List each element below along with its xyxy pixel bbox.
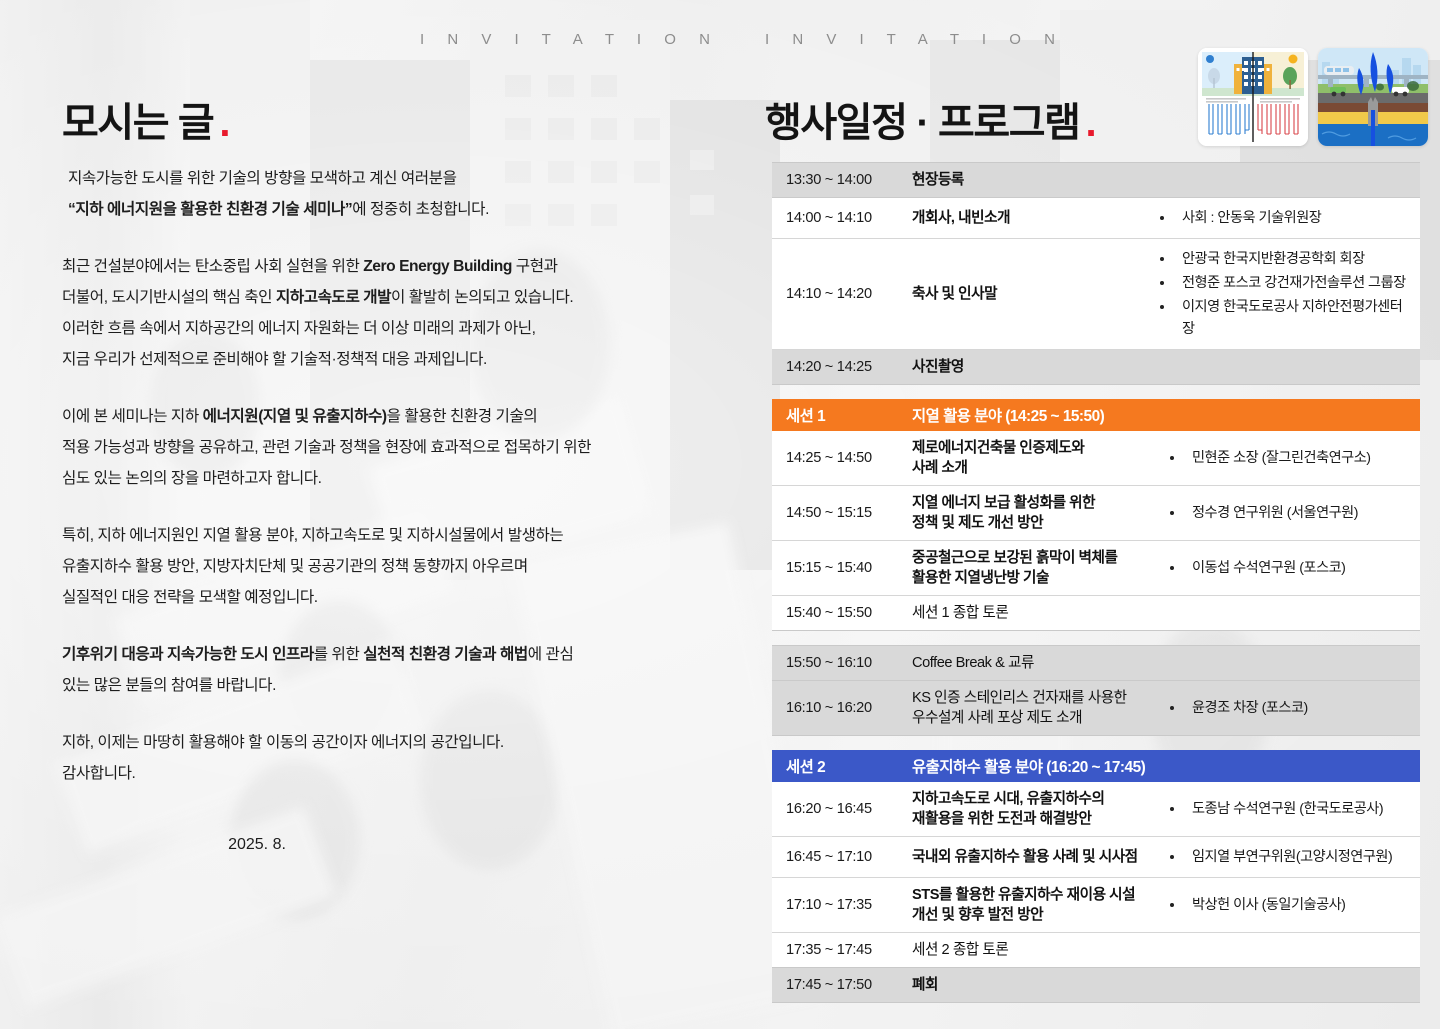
schedule-row: 14:10 ~ 14:20축사 및 인사말안광국 한국지반환경공학회 회장전형준… — [772, 239, 1420, 350]
session-label: 세션 1 — [772, 404, 912, 426]
schedule-speaker-cell — [1158, 596, 1420, 630]
schedule-speaker-cell: 사회 : 안동욱 기술위원장 — [1148, 198, 1420, 238]
schedule-title-cell: 개회사, 내빈소개 — [912, 198, 1148, 238]
schedule-speaker-item: 민현준 소장 (잘그린건축연구소) — [1158, 447, 1412, 469]
schedule-speaker-cell: 안광국 한국지반환경공학회 회장전형준 포스코 강건재가전솔루션 그룹장이지영 … — [1148, 239, 1420, 349]
schedule-title-cell: 세션 2 종합 토론 — [912, 933, 1158, 967]
schedule-table: 13:30 ~ 14:00현장등록14:00 ~ 14:10개회사, 내빈소개사… — [772, 162, 1420, 1003]
schedule-session1-block: 세션 1지열 활용 분야 (14:25 ~ 15:50)14:25 ~ 14:5… — [772, 399, 1420, 631]
schedule-speaker-item: 안광국 한국지반환경공학회 회장 — [1148, 248, 1412, 270]
schedule-speaker-item: 이지영 한국도로공사 지하안전평가센터장 — [1148, 296, 1412, 340]
schedule-row: 14:20 ~ 14:25사진촬영 — [772, 350, 1420, 385]
schedule-speaker-item: 사회 : 안동욱 기술위원장 — [1148, 207, 1412, 229]
schedule-title-cell: 세션 1 종합 토론 — [912, 596, 1158, 630]
schedule-row: 17:45 ~ 17:50폐회 — [772, 968, 1420, 1003]
schedule-row: 15:15 ~ 15:40중공철근으로 보강된 흙막이 벽체를활용한 지열냉난방… — [772, 541, 1420, 596]
schedule-time-cell: 14:25 ~ 14:50 — [772, 431, 912, 485]
schedule-time-cell: 16:10 ~ 16:20 — [772, 681, 912, 735]
schedule-opening-block: 13:30 ~ 14:00현장등록14:00 ~ 14:10개회사, 내빈소개사… — [772, 162, 1420, 385]
schedule-row: 14:25 ~ 14:50제로에너지건축물 인증제도와사례 소개민현준 소장 (… — [772, 431, 1420, 486]
schedule-time-cell: 14:20 ~ 14:25 — [772, 350, 912, 384]
schedule-time-cell: 14:50 ~ 15:15 — [772, 486, 912, 540]
schedule-speaker-cell: 이동섭 수석연구원 (포스코) — [1158, 541, 1420, 595]
schedule-speaker-item: 윤경조 차장 (포스코) — [1158, 697, 1412, 719]
schedule-row: 14:00 ~ 14:10개회사, 내빈소개사회 : 안동욱 기술위원장 — [772, 198, 1420, 239]
page-title-left-text: 모시는 글 — [62, 101, 213, 145]
underground-groundwater-illustration — [1318, 48, 1428, 146]
schedule-row: 13:30 ~ 14:00현장등록 — [772, 162, 1420, 198]
schedule-time-cell: 17:35 ~ 17:45 — [772, 933, 912, 967]
letter-paragraph: 특히, 지하 에너지원인 지열 활용 분야, 지하고속도로 및 지하시설물에서 … — [62, 520, 672, 613]
schedule-time-cell: 17:10 ~ 17:35 — [772, 878, 912, 932]
schedule-row: 16:45 ~ 17:10국내외 유출지하수 활용 사례 및 시사점임지열 부연… — [772, 837, 1420, 878]
accent-dot-icon: . — [1086, 101, 1096, 145]
letter-paragraph: 지하, 이제는 마땅히 활용해야 할 이동의 공간이자 에너지의 공간입니다.감… — [62, 727, 672, 789]
schedule-speaker-item: 박상헌 이사 (동일기술공사) — [1158, 894, 1412, 916]
schedule-row: 14:50 ~ 15:15지열 에너지 보급 활성화를 위한정책 및 제도 개선… — [772, 486, 1420, 541]
session-banner: 세션 2유출지하수 활용 분야 (16:20 ~ 17:45) — [772, 750, 1420, 782]
schedule-title-cell: 제로에너지건축물 인증제도와사례 소개 — [912, 431, 1158, 485]
page-title-right-text: 행사일정 · 프로그램 — [765, 101, 1080, 145]
invitation-page: I N V I T A T I O N I N V I T A T I O N … — [0, 0, 1440, 1029]
letter-paragraph: 최근 건설분야에서는 탄소중립 사회 실현을 위한 Zero Energy Bu… — [62, 251, 672, 375]
schedule-row: 15:50 ~ 16:10Coffee Break & 교류 — [772, 645, 1420, 681]
schedule-speaker-cell: 윤경조 차장 (포스코) — [1158, 681, 1420, 735]
session-label: 세션 2 — [772, 755, 912, 777]
schedule-speaker-cell — [1148, 350, 1420, 384]
page-title-left: 모시는 글. — [62, 90, 229, 148]
schedule-title-cell: 국내외 유출지하수 활용 사례 및 시사점 — [912, 837, 1158, 877]
schedule-speaker-cell — [1158, 646, 1420, 680]
schedule-time-cell: 14:00 ~ 14:10 — [772, 198, 912, 238]
kicker-invitation-left: I N V I T A T I O N — [420, 31, 719, 48]
schedule-gap — [772, 385, 1420, 399]
schedule-row: 17:10 ~ 17:35STS를 활용한 유출지하수 재이용 시설개선 및 향… — [772, 878, 1420, 933]
schedule-speaker-item: 임지열 부연구위원(고양시정연구원) — [1158, 846, 1412, 868]
schedule-speaker-cell: 정수경 연구위원 (서울연구원) — [1158, 486, 1420, 540]
schedule-closing-block: 17:45 ~ 17:50폐회 — [772, 968, 1420, 1003]
schedule-title-cell: 축사 및 인사말 — [912, 239, 1148, 349]
schedule-speaker-item: 전형준 포스코 강건재가전솔루션 그룹장 — [1148, 272, 1412, 294]
schedule-speaker-cell: 민현준 소장 (잘그린건축연구소) — [1158, 431, 1420, 485]
geothermal-heating-cooling-illustration — [1198, 48, 1308, 146]
schedule-row: 16:10 ~ 16:20KS 인증 스테인리스 건자재를 사용한우수설계 사례… — [772, 681, 1420, 736]
schedule-row: 16:20 ~ 16:45지하고속도로 시대, 유출지하수의재활용을 위한 도전… — [772, 782, 1420, 837]
schedule-time-cell: 15:15 ~ 15:40 — [772, 541, 912, 595]
schedule-speaker-cell — [1158, 933, 1420, 967]
schedule-title-cell: Coffee Break & 교류 — [912, 646, 1158, 680]
schedule-speaker-item: 도종남 수석연구원 (한국도로공사) — [1158, 798, 1412, 820]
accent-dot-icon: . — [219, 101, 229, 145]
schedule-time-cell: 15:50 ~ 16:10 — [772, 646, 912, 680]
letter-paragraph: 기후위기 대응과 지속가능한 도시 인프라를 위한 실천적 친환경 기술과 해법… — [62, 639, 672, 701]
session-name: 유출지하수 활용 분야 (16:20 ~ 17:45) — [912, 755, 1420, 777]
schedule-speaker-cell: 도종남 수석연구원 (한국도로공사) — [1158, 782, 1420, 836]
schedule-time-cell: 13:30 ~ 14:00 — [772, 163, 912, 197]
schedule-speaker-item: 정수경 연구위원 (서울연구원) — [1158, 502, 1412, 524]
schedule-time-cell: 17:45 ~ 17:50 — [772, 968, 912, 1002]
schedule-speaker-item: 이동섭 수석연구원 (포스코) — [1158, 557, 1412, 579]
session-name: 지열 활용 분야 (14:25 ~ 15:50) — [912, 404, 1420, 426]
schedule-gap — [772, 631, 1420, 645]
schedule-time-cell: 16:45 ~ 17:10 — [772, 837, 912, 877]
schedule-speaker-cell: 박상헌 이사 (동일기술공사) — [1158, 878, 1420, 932]
schedule-title-cell: 지하고속도로 시대, 유출지하수의재활용을 위한 도전과 해결방안 — [912, 782, 1158, 836]
schedule-title-cell: 중공철근으로 보강된 흙막이 벽체를활용한 지열냉난방 기술 — [912, 541, 1158, 595]
letter-paragraph: 지속가능한 도시를 위한 기술의 방향을 모색하고 계신 여러분을“지하 에너지… — [62, 163, 672, 225]
schedule-row: 15:40 ~ 15:50세션 1 종합 토론 — [772, 596, 1420, 631]
schedule-time-cell: 16:20 ~ 16:45 — [772, 782, 912, 836]
schedule-time-cell: 14:10 ~ 14:20 — [772, 239, 912, 349]
schedule-title-cell: 폐회 — [912, 968, 1148, 1002]
page-title-right: 행사일정 · 프로그램. — [765, 90, 1095, 148]
schedule-title-cell: 지열 에너지 보급 활성화를 위한정책 및 제도 개선 방안 — [912, 486, 1158, 540]
invitation-letter: 지속가능한 도시를 위한 기술의 방향을 모색하고 계신 여러분을“지하 에너지… — [62, 163, 672, 860]
schedule-speaker-cell — [1148, 163, 1420, 197]
schedule-row: 17:35 ~ 17:45세션 2 종합 토론 — [772, 933, 1420, 968]
schedule-gap — [772, 736, 1420, 750]
schedule-speaker-cell: 임지열 부연구위원(고양시정연구원) — [1158, 837, 1420, 877]
schedule-title-cell: STS를 활용한 유출지하수 재이용 시설개선 및 향후 발전 방안 — [912, 878, 1158, 932]
illustration-thumbnails — [1198, 48, 1428, 146]
kicker-invitation-right: I N V I T A T I O N — [765, 31, 1064, 48]
session-banner: 세션 1지열 활용 분야 (14:25 ~ 15:50) — [772, 399, 1420, 431]
schedule-session2-block: 세션 2유출지하수 활용 분야 (16:20 ~ 17:45)16:20 ~ 1… — [772, 750, 1420, 968]
schedule-speaker-cell — [1148, 968, 1420, 1002]
letter-paragraph: 이에 본 세미나는 지하 에너지원(지열 및 유출지하수)을 활용한 친환경 기… — [62, 401, 672, 494]
schedule-time-cell: 15:40 ~ 15:50 — [772, 596, 912, 630]
schedule-title-cell: 사진촬영 — [912, 350, 1148, 384]
signature-date: 2025. 8. — [62, 829, 672, 860]
schedule-title-cell: 현장등록 — [912, 163, 1148, 197]
schedule-title-cell: KS 인증 스테인리스 건자재를 사용한우수설계 사례 포상 제도 소개 — [912, 681, 1158, 735]
schedule-break-block: 15:50 ~ 16:10Coffee Break & 교류16:10 ~ 16… — [772, 645, 1420, 736]
